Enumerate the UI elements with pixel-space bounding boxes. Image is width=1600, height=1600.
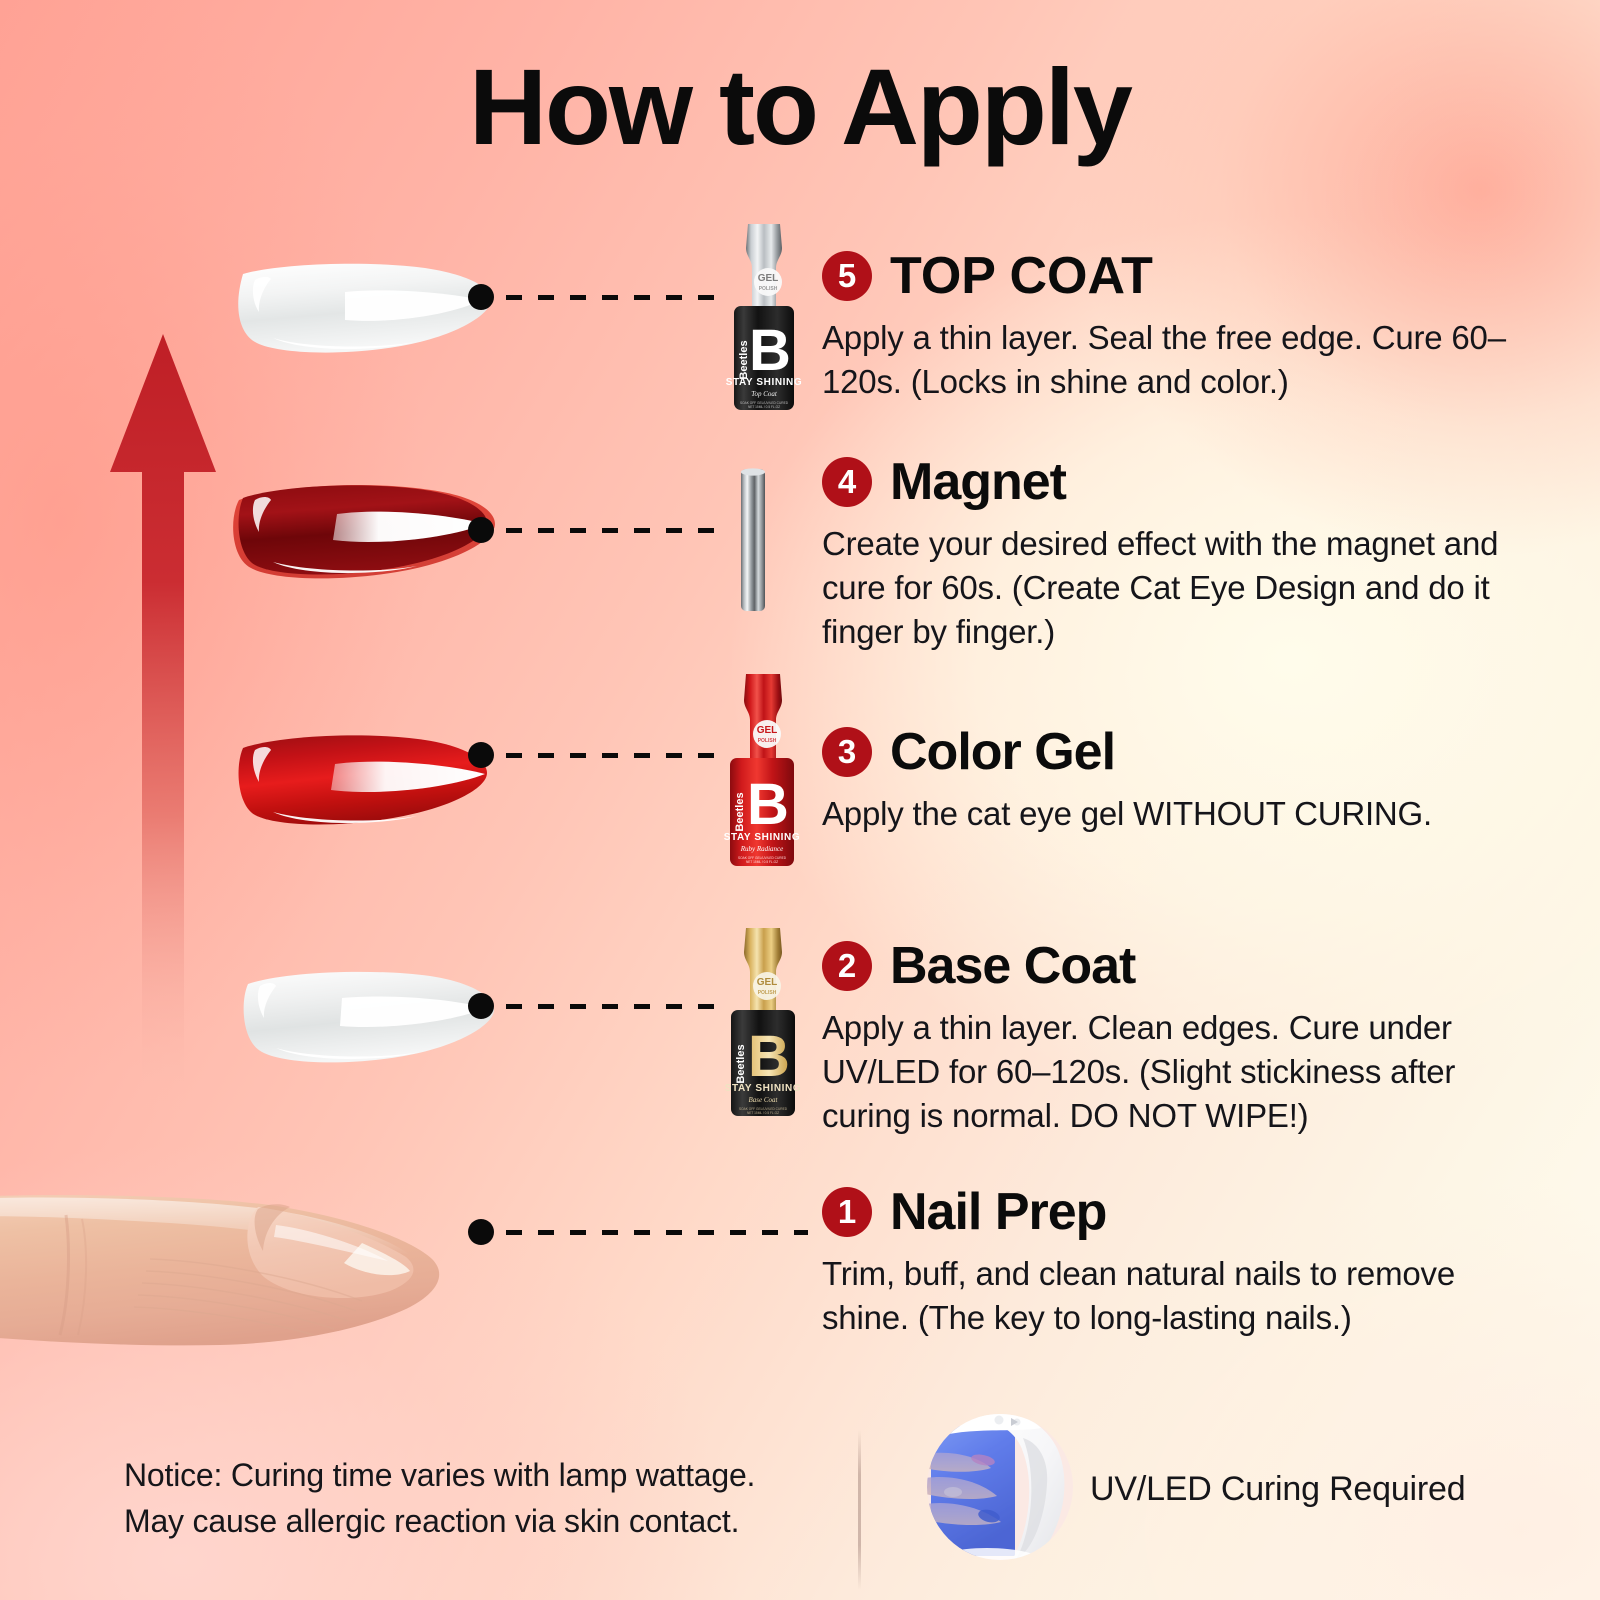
step-3-header: 3 Color Gel [822, 722, 1522, 782]
page-title: How to Apply [0, 44, 1600, 169]
connector-step-4 [468, 517, 718, 543]
step-2-header: 2 Base Coat [822, 936, 1522, 996]
svg-text:STAY SHINING: STAY SHINING [725, 1083, 801, 1094]
connector-step-5 [468, 284, 718, 310]
connector-dashed-line [506, 753, 718, 758]
svg-text:Beetles: Beetles [734, 792, 746, 831]
svg-text:NET 15ML / 0.5 FL.OZ: NET 15ML / 0.5 FL.OZ [746, 860, 778, 864]
step-1-number-badge: 1 [822, 1187, 872, 1237]
nail-tip-color-gel [225, 720, 510, 835]
connector-dashed-line [506, 295, 718, 300]
step-2: 2 Base Coat Apply a thin layer. Clean ed… [822, 936, 1522, 1138]
svg-text:Base Coat: Base Coat [749, 1096, 779, 1104]
svg-text:POLISH: POLISH [759, 286, 778, 292]
step-1: 1 Nail Prep Trim, buff, and clean natura… [822, 1182, 1522, 1340]
notice-text: Notice: Curing time varies with lamp wat… [124, 1452, 824, 1545]
connector-dot [468, 1219, 494, 1245]
svg-text:Beetles: Beetles [735, 1044, 747, 1083]
step-5-description: Apply a thin layer. Seal the free edge. … [822, 316, 1512, 404]
svg-text:STAY SHINING: STAY SHINING [726, 377, 802, 388]
uv-led-label: UV/LED Curing Required [1090, 1470, 1465, 1509]
svg-text:GEL: GEL [757, 725, 778, 736]
svg-text:NET 15ML / 0.5 FL.OZ: NET 15ML / 0.5 FL.OZ [748, 405, 780, 409]
svg-text:Ruby Radiance: Ruby Radiance [740, 845, 784, 853]
step-4-description: Create your desired effect with the magn… [822, 522, 1522, 654]
notice-line-1: Notice: Curing time varies with lamp wat… [124, 1452, 824, 1498]
connector-step-2 [468, 993, 718, 1019]
svg-text:POLISH: POLISH [758, 738, 777, 744]
svg-text:NET 15ML / 0.5 FL.OZ: NET 15ML / 0.5 FL.OZ [747, 1111, 779, 1115]
step-1-header: 1 Nail Prep [822, 1182, 1522, 1242]
step-5: 5 TOP COAT Apply a thin layer. Seal the … [822, 246, 1522, 404]
top-coat-bottle: GEL POLISH Beetles B STAY SHINING Top Co… [714, 222, 814, 412]
step-5-number-badge: 5 [822, 251, 872, 301]
step-2-number-badge: 2 [822, 941, 872, 991]
step-5-title: TOP COAT [890, 246, 1153, 306]
connector-dashed-line [506, 1230, 808, 1235]
svg-text:B: B [749, 318, 791, 383]
step-4: 4 Magnet Create your desired effect with… [822, 452, 1522, 654]
step-4-title: Magnet [890, 452, 1066, 512]
step-5-header: 5 TOP COAT [822, 246, 1522, 306]
connector-dashed-line [506, 1004, 718, 1009]
step-4-header: 4 Magnet [822, 452, 1522, 512]
step-1-description: Trim, buff, and clean natural nails to r… [822, 1252, 1492, 1340]
connector-dot [468, 993, 494, 1019]
step-1-title: Nail Prep [890, 1182, 1106, 1242]
step-4-number-badge: 4 [822, 457, 872, 507]
magnet-stick [736, 466, 770, 614]
svg-text:POLISH: POLISH [758, 990, 777, 996]
connector-dot [468, 742, 494, 768]
upward-arrow-icon [104, 330, 222, 1110]
base-coat-bottle: GEL POLISH Beetles B STAY SHINING Base C… [712, 926, 814, 1118]
connector-step-1 [468, 1219, 808, 1245]
color-gel-bottle: GEL POLISH Beetles B STAY SHINING Ruby R… [710, 672, 814, 868]
footer-divider [858, 1430, 861, 1590]
svg-text:GEL: GEL [758, 273, 779, 284]
svg-text:Top Coat: Top Coat [751, 390, 778, 398]
step-2-title: Base Coat [890, 936, 1135, 996]
step-3-title: Color Gel [890, 722, 1115, 782]
step-3-number-badge: 3 [822, 727, 872, 777]
step-3: 3 Color Gel Apply the cat eye gel WITHOU… [822, 722, 1522, 836]
svg-text:B: B [747, 772, 789, 837]
connector-dot [468, 517, 494, 543]
connector-step-3 [468, 742, 718, 768]
natural-finger-photo [0, 1185, 490, 1445]
step-3-description: Apply the cat eye gel WITHOUT CURING. [822, 792, 1512, 836]
connector-dot [468, 284, 494, 310]
notice-line-2: May cause allergic reaction via skin con… [124, 1498, 824, 1544]
svg-text:STAY SHINING: STAY SHINING [724, 832, 800, 843]
svg-text:B: B [748, 1024, 790, 1089]
uv-led-lamp-photo [925, 1412, 1075, 1562]
svg-text:GEL: GEL [757, 977, 778, 988]
step-2-description: Apply a thin layer. Clean edges. Cure un… [822, 1006, 1492, 1138]
connector-dashed-line [506, 528, 718, 533]
